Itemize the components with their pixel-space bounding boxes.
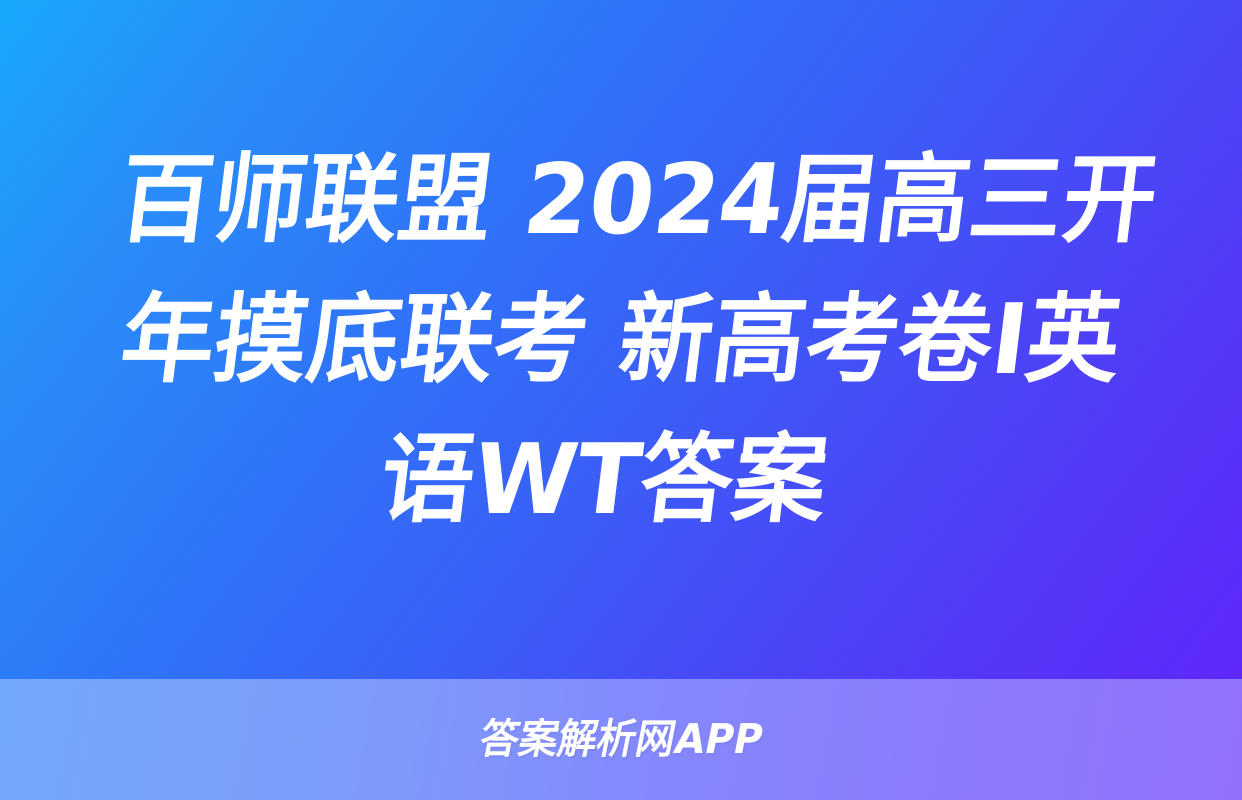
title-card: 百师联盟 2024届高三开年摸底联考 新高考卷Ⅰ英语WT答案 答案解析网APP	[0, 0, 1242, 800]
page-title: 百师联盟 2024届高三开年摸底联考 新高考卷Ⅰ英语WT答案	[62, 130, 1179, 550]
hero-banner: 百师联盟 2024届高三开年摸底联考 新高考卷Ⅰ英语WT答案	[0, 0, 1242, 679]
watermark-band: 答案解析网APP	[0, 679, 1242, 800]
watermark-label: 答案解析网APP	[476, 719, 766, 760]
